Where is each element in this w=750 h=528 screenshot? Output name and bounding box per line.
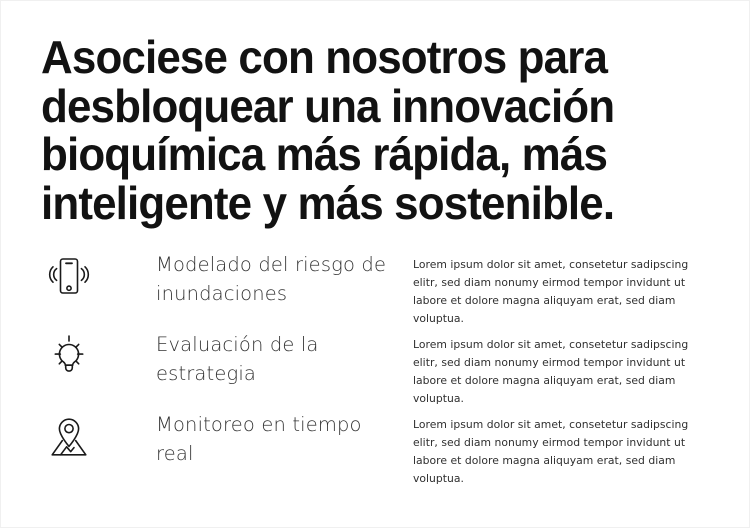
page-canvas: Asociese con nosotros para desbloquear u… <box>0 0 750 528</box>
list-item: Evaluación de la estrategia Lorem ipsum … <box>1 324 750 404</box>
feature-list: Modelado del riesgo de inundaciones Lore… <box>1 244 750 484</box>
map-pin-icon <box>43 412 95 464</box>
list-item: Modelado del riesgo de inundaciones Lore… <box>1 244 750 324</box>
feature-description: Lorem ipsum dolor sit amet, consetetur s… <box>413 256 705 328</box>
page-title: Asociese con nosotros para desbloquear u… <box>41 33 671 227</box>
list-item: Monitoreo en tiempo real Lorem ipsum dol… <box>1 404 750 484</box>
feature-description: Lorem ipsum dolor sit amet, consetetur s… <box>413 336 705 408</box>
feature-description: Lorem ipsum dolor sit amet, consetetur s… <box>413 416 705 488</box>
feature-title: Evaluación de la estrategia <box>156 331 391 388</box>
vibrating-phone-icon <box>43 252 95 304</box>
feature-title: Monitoreo en tiempo real <box>156 411 391 468</box>
feature-title: Modelado del riesgo de inundaciones <box>156 251 391 308</box>
lightbulb-icon <box>43 332 95 384</box>
